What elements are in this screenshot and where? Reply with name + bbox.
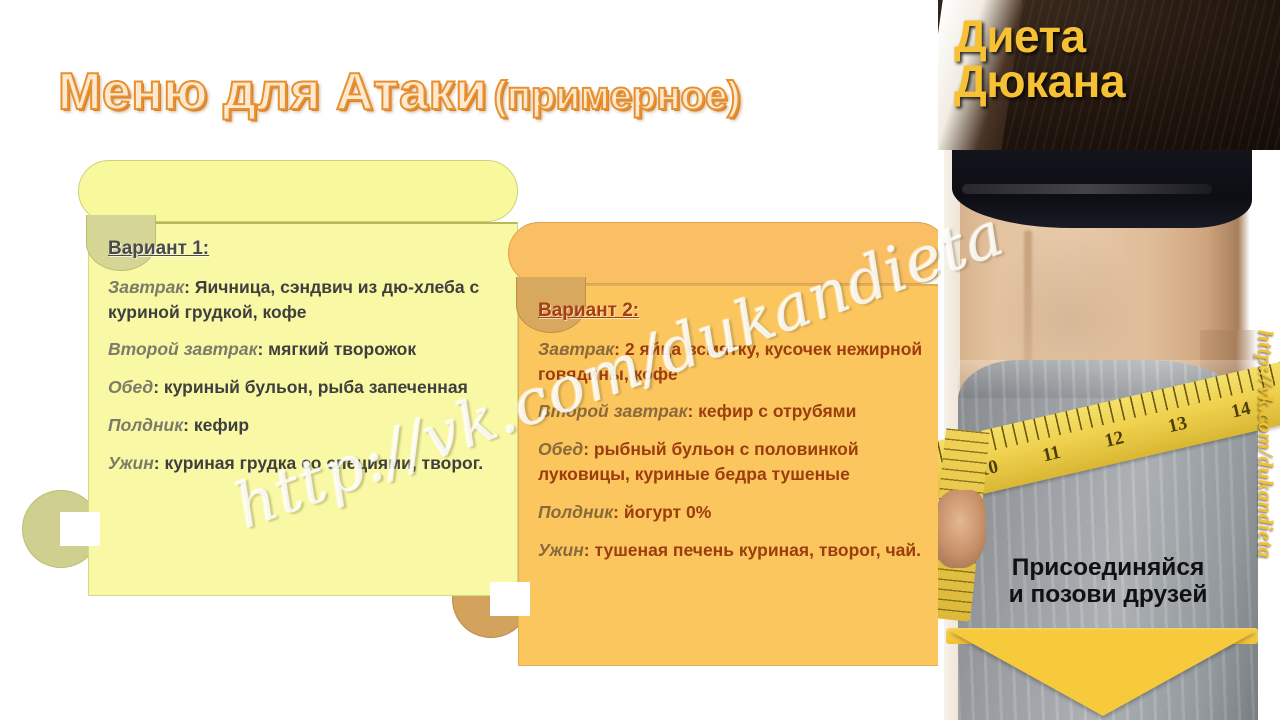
card-content: Вариант 1: Завтрак: Яичница, сэндвич из … bbox=[108, 238, 502, 489]
meal-label: Полдник bbox=[538, 502, 613, 522]
meal-label: Завтрак bbox=[538, 339, 614, 359]
meal-separator: : bbox=[584, 540, 595, 560]
meal-separator: : bbox=[583, 439, 594, 459]
scroll-roll-top bbox=[508, 222, 948, 284]
meal-label: Обед bbox=[538, 439, 583, 459]
page-title: Меню для Атаки(примерное) bbox=[58, 62, 938, 130]
meal-text: мягкий творожок bbox=[268, 339, 416, 359]
meal-row: Обед: рыбный бульон с половинкой луковиц… bbox=[538, 437, 932, 487]
promo-headline: Диета Дюкана bbox=[954, 14, 1274, 104]
meal-label: Ужин bbox=[538, 540, 584, 560]
meal-separator: : bbox=[687, 401, 698, 421]
yellow-triangle-icon bbox=[948, 630, 1258, 716]
tape-number: 11 bbox=[1040, 442, 1062, 467]
meal-label: Полдник bbox=[108, 415, 183, 435]
poster-canvas: Меню для Атаки(примерное) Вариант 1: Зав… bbox=[0, 0, 1280, 720]
meal-text: тушеная печень куриная, творог, чай. bbox=[594, 540, 920, 560]
card-heading: Вариант 1: bbox=[108, 238, 502, 261]
meal-label: Второй завтрак bbox=[538, 401, 687, 421]
meal-label: Завтрак bbox=[108, 277, 184, 297]
meal-separator: : bbox=[257, 339, 268, 359]
meal-separator: : bbox=[153, 377, 164, 397]
promo-cta: Присоединяйся и позови друзей bbox=[958, 555, 1258, 609]
meal-text: йогурт 0% bbox=[624, 502, 711, 522]
menu-card-variant-2: Вариант 2: Завтрак: 2 яйца всмятку, кусо… bbox=[508, 222, 956, 670]
meal-separator: : bbox=[614, 339, 625, 359]
meal-text: кефир bbox=[194, 415, 249, 435]
meal-text: куриный бульон, рыба запеченная bbox=[164, 377, 468, 397]
scroll-corner-notch-icon bbox=[490, 582, 530, 616]
promo-photo-panel: Диета Дюкана 10 11 12 13 14 bbox=[938, 0, 1280, 720]
meal-row: Ужин: куриная грудка со специями, творог… bbox=[108, 451, 502, 476]
meal-row: Завтрак: Яичница, сэндвич из дю-хлеба с … bbox=[108, 275, 502, 325]
tape-number: 14 bbox=[1229, 398, 1252, 424]
menu-card-variant-1: Вариант 1: Завтрак: Яичница, сэндвич из … bbox=[78, 160, 526, 600]
meal-row: Второй завтрак: мягкий творожок bbox=[108, 337, 502, 362]
scroll-corner-notch-icon bbox=[60, 512, 100, 546]
meal-row: Полдник: йогурт 0% bbox=[538, 500, 932, 525]
meal-separator: : bbox=[184, 277, 195, 297]
promo-cta-line2: и позови друзей bbox=[958, 582, 1258, 609]
card-content: Вариант 2: Завтрак: 2 яйца всмятку, кусо… bbox=[538, 300, 932, 576]
meal-separator: : bbox=[154, 453, 165, 473]
meal-row: Завтрак: 2 яйца всмятку, кусочек нежирно… bbox=[538, 337, 932, 387]
promo-headline-line1: Диета bbox=[954, 14, 1274, 59]
promo-headline-line2: Дюкана bbox=[954, 59, 1274, 104]
watermark-vertical: http://vk.com/dukandieta bbox=[1253, 330, 1278, 558]
meal-label: Второй завтрак bbox=[108, 339, 257, 359]
tape-number: 13 bbox=[1166, 413, 1189, 439]
meal-separator: : bbox=[613, 502, 624, 522]
meal-text: кефир с отрубями bbox=[698, 401, 856, 421]
promo-cta-line1: Присоединяйся bbox=[958, 555, 1258, 582]
meal-row: Обед: куриный бульон, рыба запеченная bbox=[108, 375, 502, 400]
scroll-roll-top bbox=[78, 160, 518, 222]
sports-bra bbox=[952, 150, 1252, 228]
tape-number: 12 bbox=[1103, 427, 1126, 453]
meal-separator: : bbox=[183, 415, 194, 435]
meal-row: Ужин: тушеная печень куриная, творог, ча… bbox=[538, 538, 932, 563]
page-title-sub: (примерное) bbox=[494, 74, 741, 118]
meal-row: Второй завтрак: кефир с отрубями bbox=[538, 399, 932, 424]
meal-text: куриная грудка со специями, творог. bbox=[164, 453, 483, 473]
page-title-main: Меню для Атаки bbox=[58, 63, 488, 121]
card-heading: Вариант 2: bbox=[538, 300, 932, 323]
meal-label: Ужин bbox=[108, 453, 154, 473]
meal-label: Обед bbox=[108, 377, 153, 397]
meal-row: Полдник: кефир bbox=[108, 413, 502, 438]
